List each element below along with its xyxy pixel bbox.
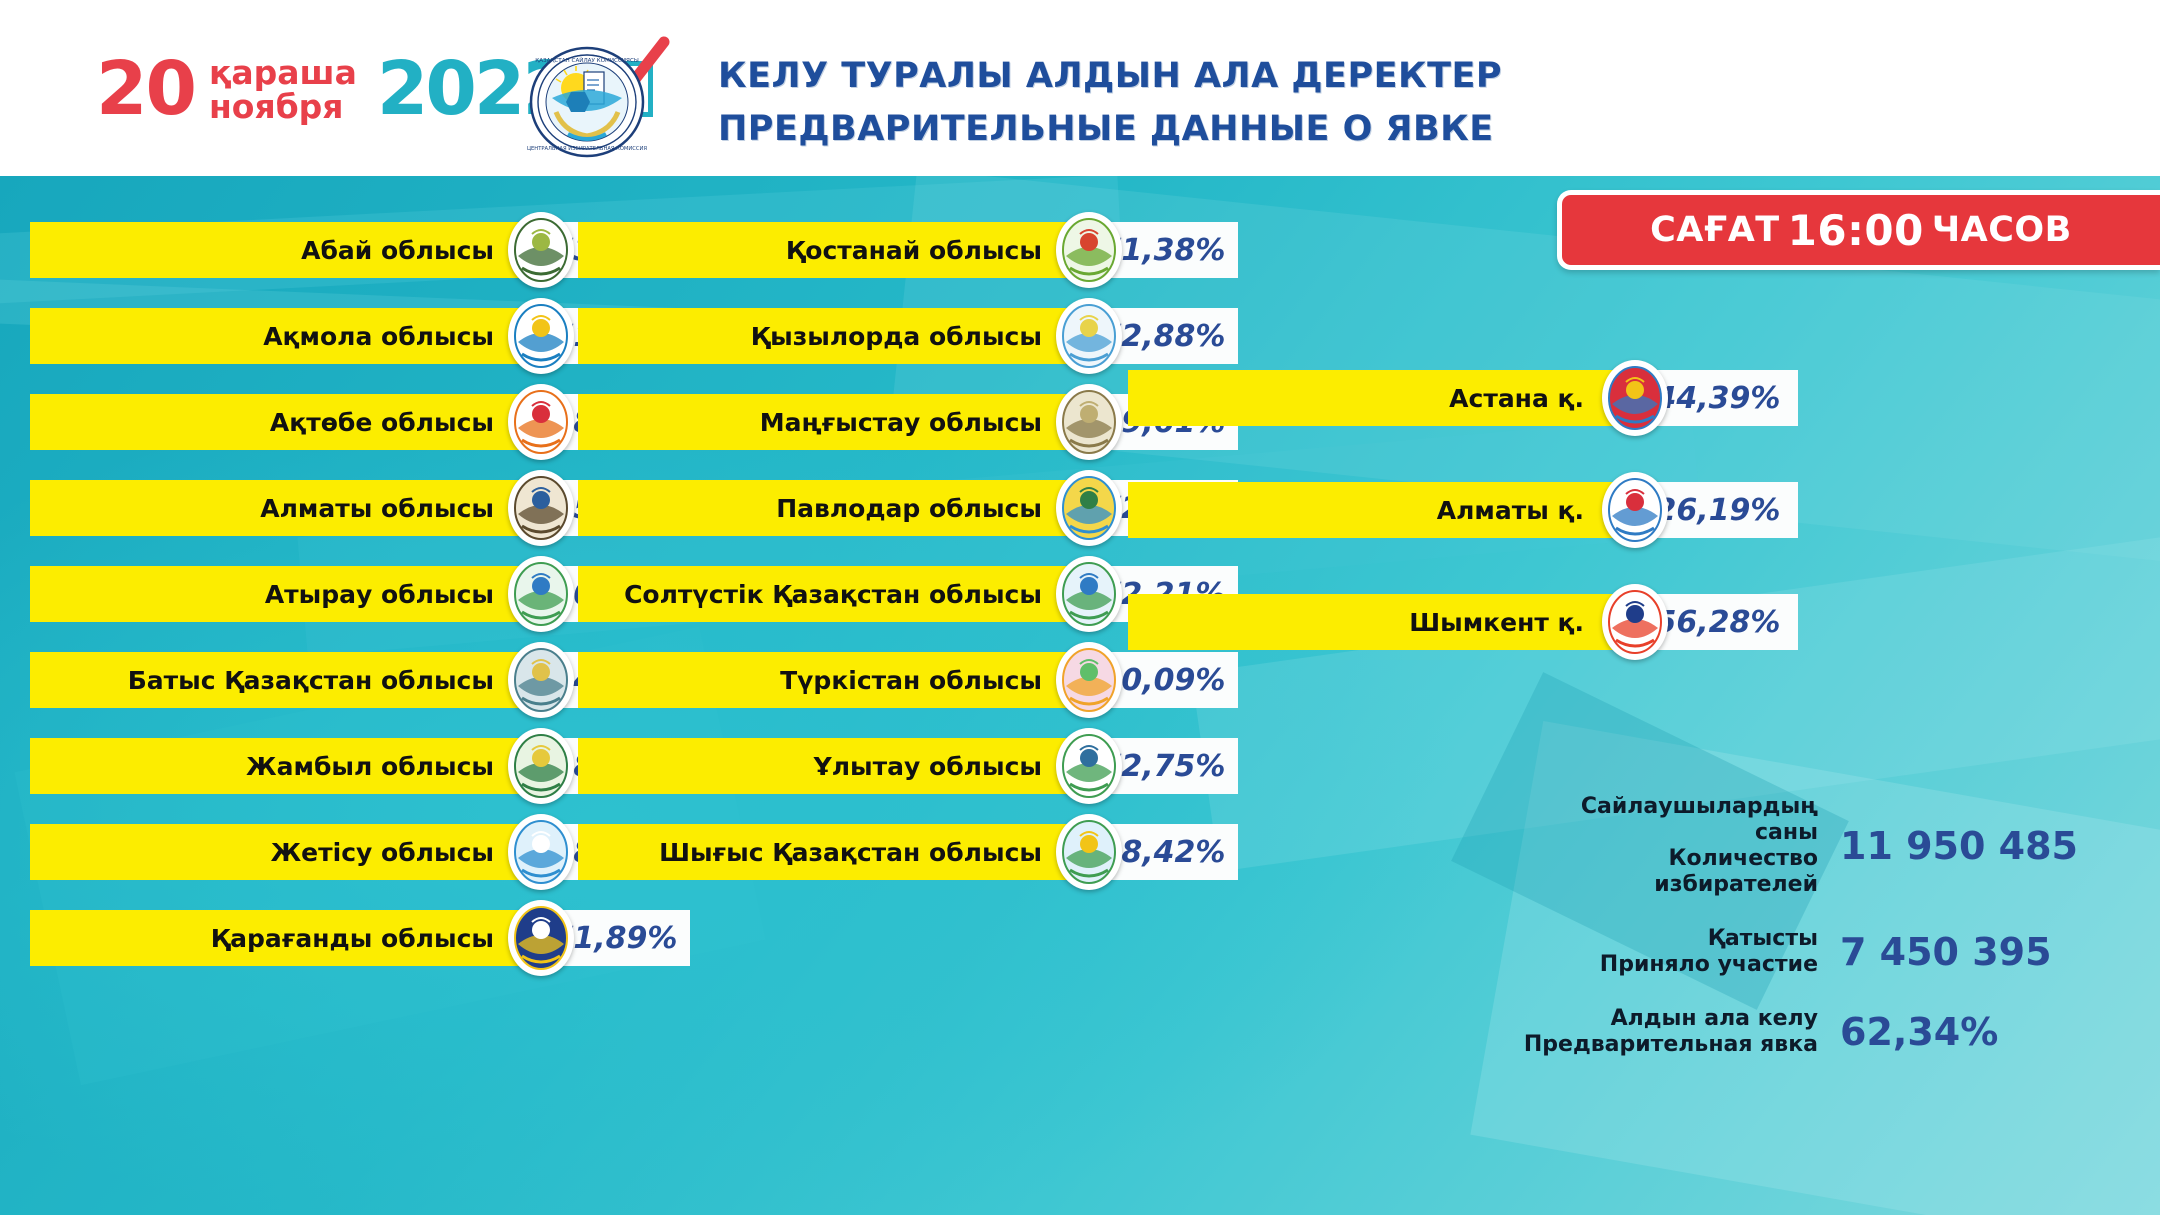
region-name: Ұлытау облысы	[578, 738, 1088, 794]
date-months: қараша ноября	[209, 54, 357, 123]
zhambyl-region-emblem	[508, 728, 574, 804]
region-row: Шығыс Қазақстан облысы 68,42%	[578, 824, 1238, 880]
time-badge-suffix: ЧАСОВ	[1932, 210, 2072, 250]
title-russian: ПРЕДВАРИТЕЛЬНЫЕ ДАННЫЕ О ЯВКЕ	[718, 103, 1818, 156]
svg-text:ЦЕНТРАЛЬНАЯ ИЗБИРАТЕЛЬНАЯ КОМИ: ЦЕНТРАЛЬНАЯ ИЗБИРАТЕЛЬНАЯ КОМИССИЯ	[527, 146, 647, 152]
region-name: Түркістан облысы	[578, 652, 1088, 708]
region-row: Қостанай облысы 71,38%	[578, 222, 1238, 278]
central-election-commission-emblem: ҚАЗАҚСТАН САЙЛАУ КОМИССИЯСЫ ЦЕНТРАЛЬНАЯ …	[516, 46, 658, 158]
zhetisu-region-emblem	[508, 814, 574, 890]
statistic-label: Сайлаушылардың саныКоличество избирателе…	[1520, 794, 1840, 898]
region-name: Павлодар облысы	[578, 480, 1088, 536]
region-row: Қызылорда облысы 72,88%	[578, 308, 1238, 364]
page-title: КЕЛУ ТУРАЛЫ АЛДЫН АЛА ДЕРЕКТЕР ПРЕДВАРИТ…	[718, 50, 1818, 155]
date-month-ru: ноября	[209, 90, 357, 124]
astana-city-emblem	[1602, 360, 1668, 436]
aqtobe-region-emblem	[508, 384, 574, 460]
region-row: Шымкент қ. 56,28%	[1128, 594, 1798, 650]
date-month-kk: қараша	[209, 56, 357, 90]
statistic-label: Алдын ала келуПредварительная явка	[1520, 1006, 1840, 1058]
region-name: Солтүстік Қазақстан облысы	[578, 566, 1088, 622]
abai-region-emblem	[508, 212, 574, 288]
turkistan-region-emblem	[1056, 642, 1122, 718]
region-name: Атырау облысы	[30, 566, 540, 622]
region-name: Шығыс Қазақстан облысы	[578, 824, 1088, 880]
statistic-label-kazakh: Сайлаушылардың саны	[1520, 794, 1818, 846]
title-kazakh: КЕЛУ ТУРАЛЫ АЛДЫН АЛА ДЕРЕКТЕР	[718, 50, 1818, 103]
statistic-label-kazakh: Қатысты	[1520, 926, 1818, 952]
region-name: Ақтөбе облысы	[30, 394, 540, 450]
region-name: Маңғыстау облысы	[578, 394, 1088, 450]
region-name: Ақмола облысы	[30, 308, 540, 364]
region-row: Алматы қ. 26,19%	[1128, 482, 1798, 538]
statistic-value: 7 450 395	[1840, 930, 2160, 974]
svg-text:ҚАЗАҚСТАН САЙЛАУ КОМИССИЯСЫ: ҚАЗАҚСТАН САЙЛАУ КОМИССИЯСЫ	[535, 57, 639, 64]
region-name: Қызылорда облысы	[578, 308, 1088, 364]
results-board: САҒАТ 16:00 ЧАСОВ Абай облысы 73,57%Ақмо…	[0, 176, 2160, 1215]
atyrau-region-emblem	[508, 556, 574, 632]
almaty-city-emblem	[1602, 472, 1668, 548]
ulytau-region-emblem	[1056, 728, 1122, 804]
kyzylorda-region-emblem	[1056, 298, 1122, 374]
statistic-item: Алдын ала келуПредварительная явка62,34%	[1520, 1006, 2160, 1058]
region-name: Қостанай облысы	[578, 222, 1088, 278]
karaganda-region-emblem	[508, 900, 574, 976]
statistic-item: Сайлаушылардың саныКоличество избирателе…	[1520, 794, 2160, 898]
statistic-label-russian: Количество избирателей	[1520, 846, 1818, 898]
mangystau-region-emblem	[1056, 384, 1122, 460]
time-badge-prefix: САҒАТ	[1650, 210, 1780, 250]
region-name: Алматы қ.	[1128, 482, 1638, 538]
region-name: Батыс Қазақстан облысы	[30, 652, 540, 708]
east-kazakhstan-region-emblem	[1056, 814, 1122, 890]
region-name: Алматы облысы	[30, 480, 540, 536]
region-name: Жетісу облысы	[30, 824, 540, 880]
region-name: Жамбыл облысы	[30, 738, 540, 794]
date-day: 20	[96, 52, 195, 126]
cities-column: Астана қ. 44,39%Алматы қ. 26,19%Шымкент …	[1128, 370, 1798, 706]
infographic-page: 20 қараша ноября 2022 ҚАЗАҚСТАН САЙЛАУ К…	[0, 0, 2160, 1215]
time-badge: САҒАТ 16:00 ЧАСОВ	[1557, 190, 2160, 270]
region-name: Шымкент қ.	[1128, 594, 1638, 650]
statistic-value: 62,34%	[1840, 1010, 2160, 1054]
almaty-region-emblem	[508, 470, 574, 546]
statistic-label-russian: Приняло участие	[1520, 952, 1818, 978]
summary-statistics: Сайлаушылардың саныКоличество избирателе…	[1520, 794, 2160, 1086]
statistic-value: 11 950 485	[1840, 824, 2160, 868]
aqmola-region-emblem	[508, 298, 574, 374]
pavlodar-region-emblem	[1056, 470, 1122, 546]
statistic-label-russian: Предварительная явка	[1520, 1032, 1818, 1058]
statistic-label-kazakh: Алдын ала келу	[1520, 1006, 1818, 1032]
region-row: Ұлытау облысы 72,75%	[578, 738, 1238, 794]
region-name: Абай облысы	[30, 222, 540, 278]
statistic-label: ҚатыстыПриняло участие	[1520, 926, 1840, 978]
region-name: Астана қ.	[1128, 370, 1638, 426]
time-badge-time: 16:00	[1788, 206, 1924, 255]
west-kazakhstan-region-emblem	[508, 642, 574, 718]
north-kazakhstan-region-emblem	[1056, 556, 1122, 632]
shymkent-city-emblem	[1602, 584, 1668, 660]
statistic-item: ҚатыстыПриняло участие7 450 395	[1520, 926, 2160, 978]
region-row: Астана қ. 44,39%	[1128, 370, 1798, 426]
region-name: Қарағанды облысы	[30, 910, 540, 966]
region-row: Қарағанды облысы 71,89%	[30, 910, 690, 966]
kostanay-region-emblem	[1056, 212, 1122, 288]
